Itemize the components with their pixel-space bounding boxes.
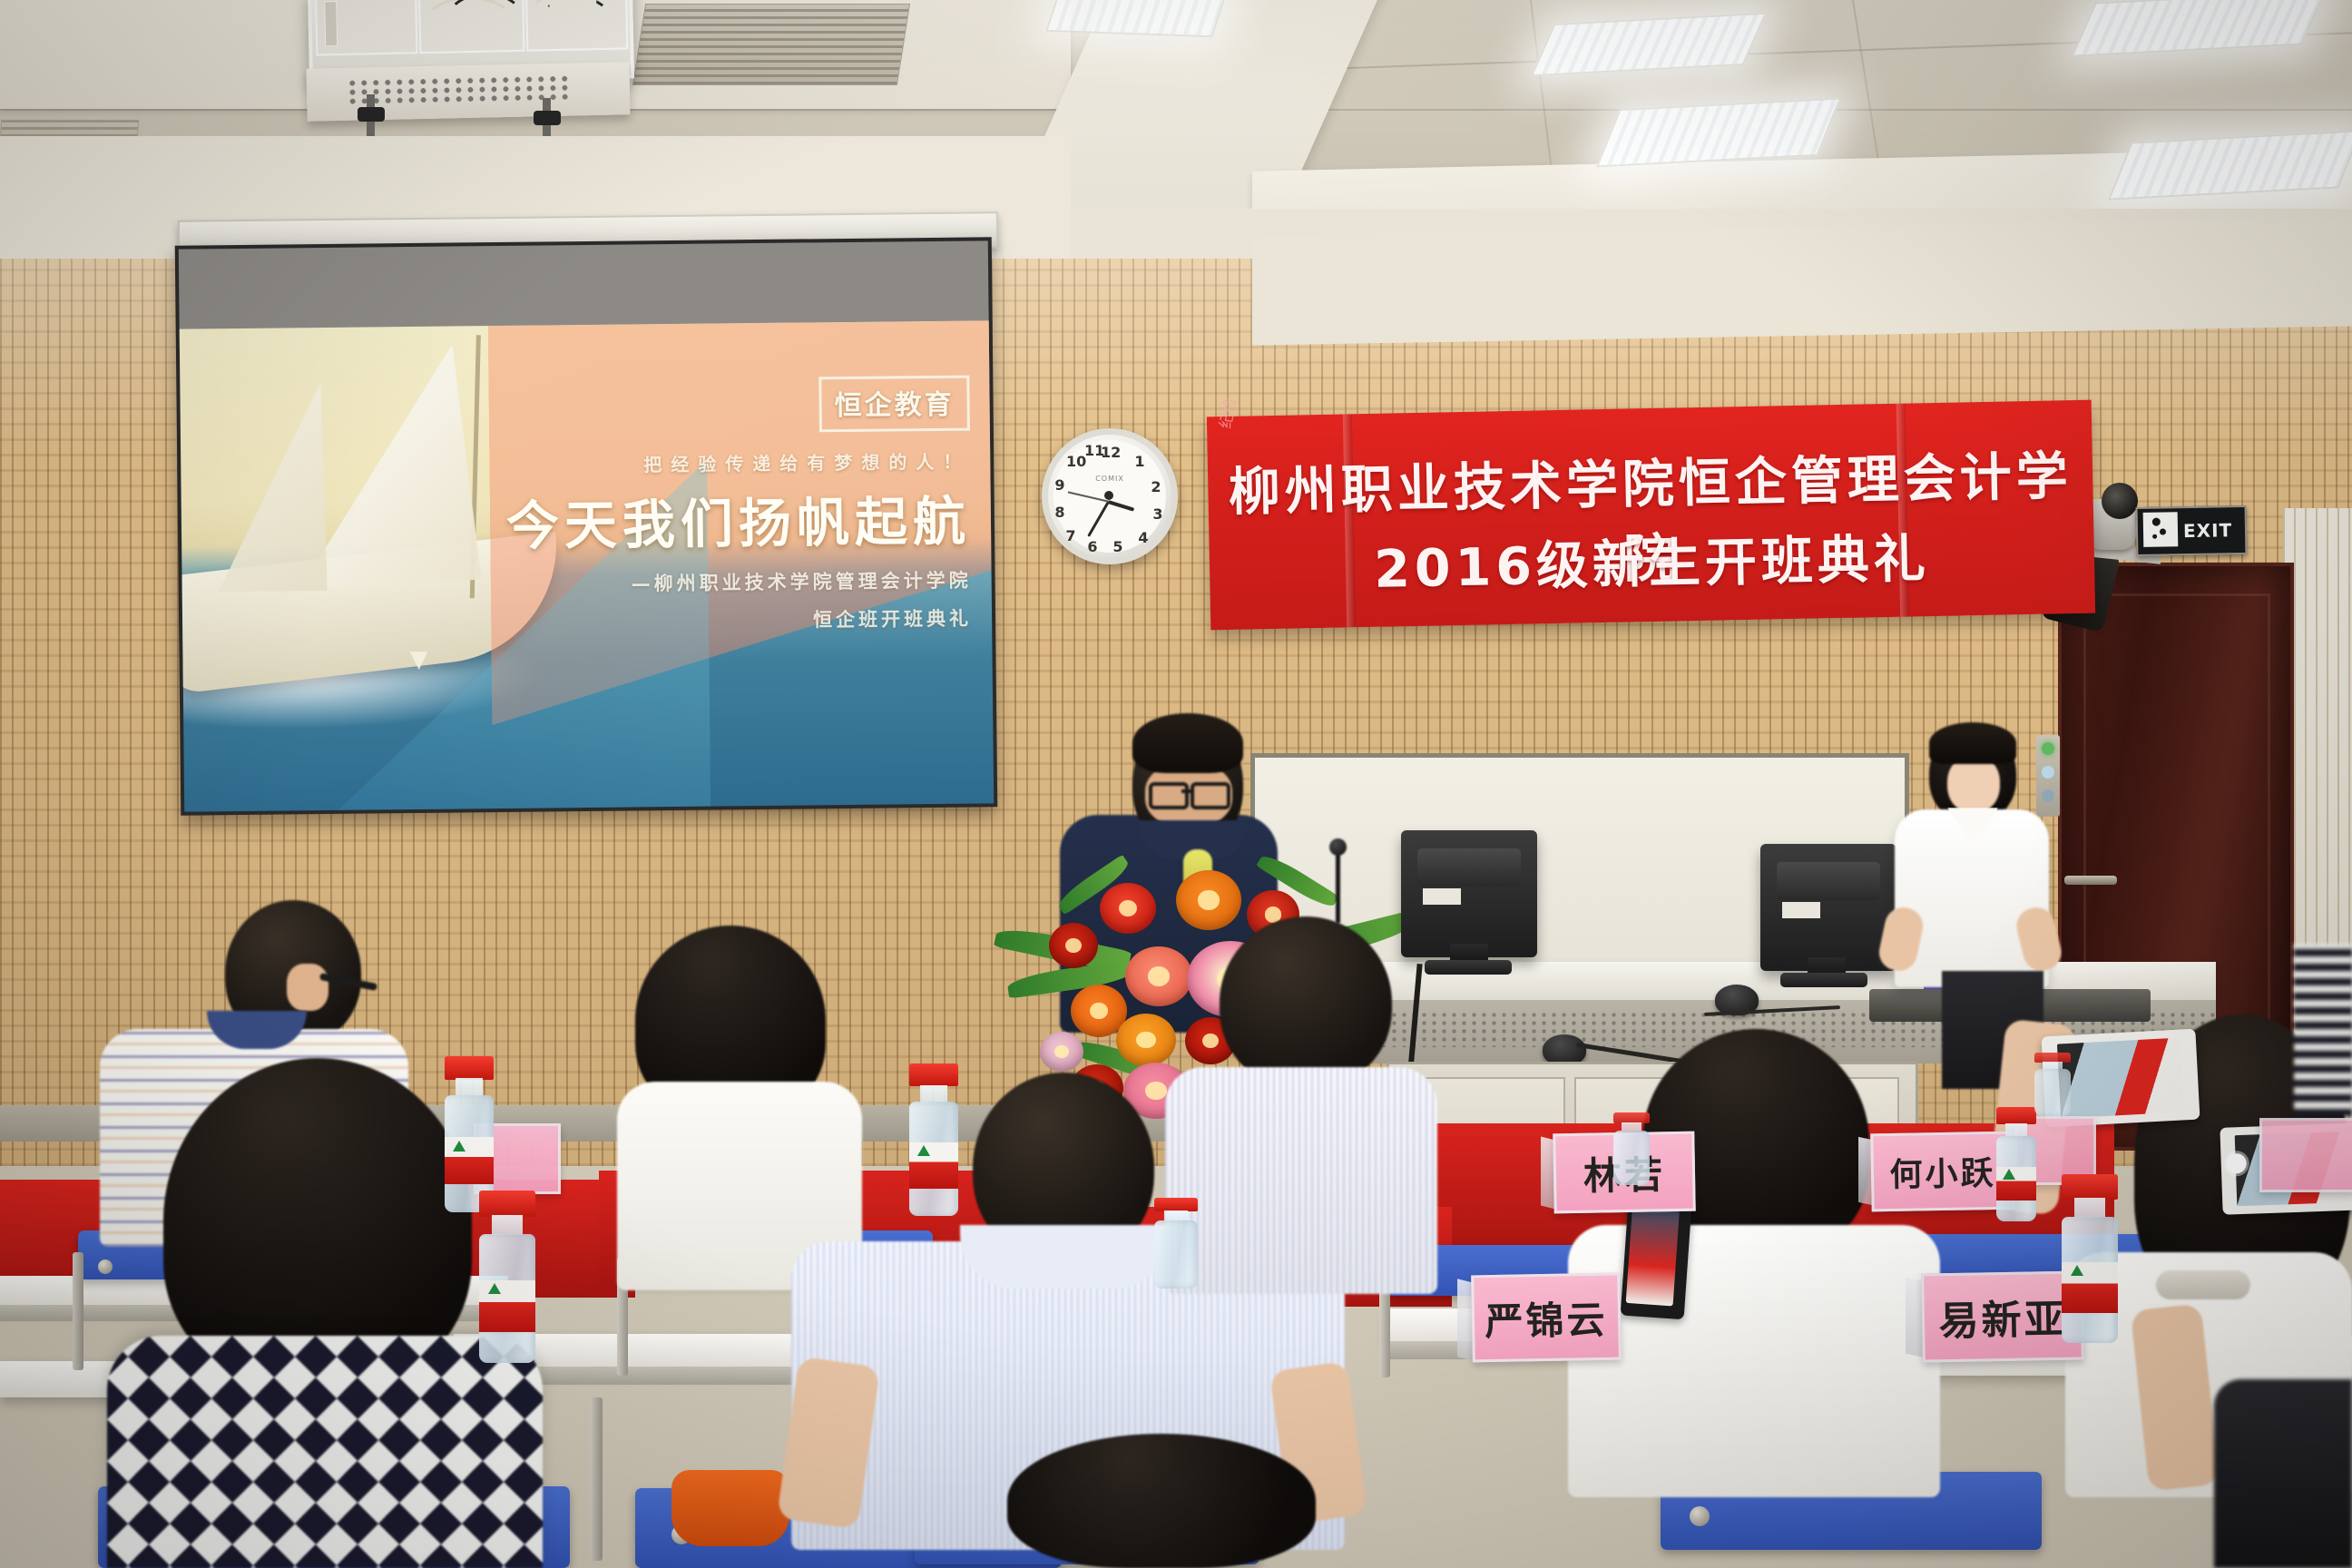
- event-banner: 纪检 柳州职业技术学院恒企管理会计学院 2016级新生开班典礼: [1207, 400, 2095, 631]
- slide-logo: 恒企教育: [818, 376, 970, 433]
- speaker-glasses-right: [1191, 782, 1230, 809]
- audience-patterned-dress: [107, 1336, 543, 1568]
- monitor-left-base: [1425, 960, 1512, 975]
- audience-head-bottom-center: [1007, 1434, 1316, 1568]
- water-bottle-8[interactable]: [2034, 1053, 2071, 1116]
- clock-brand: COMIX: [1053, 475, 1166, 483]
- monitor-right: [1760, 844, 1896, 971]
- clock-number: 3: [1150, 505, 1166, 523]
- clock-number: 6: [1084, 538, 1101, 555]
- clock-number: 7: [1063, 527, 1079, 544]
- speaker-hair: [1132, 713, 1243, 773]
- speaker-glasses-bridge: [1181, 789, 1192, 793]
- chair-bolt: [98, 1259, 113, 1274]
- wrist-bracelet: [2156, 1270, 2250, 1299]
- audience-ear: [287, 964, 328, 1011]
- speaker-glasses-left: [1149, 782, 1189, 809]
- clock-number: 8: [1052, 504, 1068, 521]
- clock-number: 1: [1132, 453, 1148, 470]
- name-card-yi: 易新亚: [1921, 1270, 2084, 1362]
- name-card-partial-far-right: [2259, 1118, 2352, 1192]
- audience-mid-shirt: [1165, 1067, 1437, 1294]
- banner-stamp: 纪检: [1212, 396, 1240, 430]
- ceiling-light: [1045, 0, 1227, 37]
- slide-headline: 今天我们扬帆起航: [399, 479, 972, 562]
- clock-center-pin: [1104, 491, 1113, 500]
- slide-subtitle: 把经验传递给有梦想的人！: [398, 447, 970, 480]
- chair-bolt: [1690, 1506, 1710, 1526]
- ptz-camera: [2087, 499, 2136, 550]
- water-bottle-7[interactable]: [1613, 1112, 1650, 1185]
- phone-held-dark[interactable]: [1621, 1201, 1692, 1320]
- audience-shirt-collar: [960, 1225, 1169, 1289]
- slide-text-block: 恒企教育 把经验传递给有梦想的人！ 今天我们扬帆起航 —柳州职业技术学院管理会计…: [397, 376, 972, 638]
- projection-screen: 恒企教育 把经验传递给有梦想的人！ 今天我们扬帆起航 —柳州职业技术学院管理会计…: [175, 237, 998, 815]
- name-card-yan: 严锦云: [1471, 1273, 1622, 1363]
- clock-face: 12 1 2 3 4 5 6 7 8 9 10 11 COMIX: [1053, 440, 1166, 553]
- monitor-left: [1401, 830, 1537, 957]
- clock-number: 4: [1135, 529, 1151, 546]
- water-bottle-6[interactable]: [1996, 1107, 2036, 1221]
- water-bottle-2[interactable]: [909, 1063, 958, 1216]
- photo-scene: EXIT 恒企教育 把经验传递给有梦想的人！ 今天我们扬帆起航 —柳州职业技术学…: [0, 0, 2352, 1568]
- banner-line-2: 2016级新生开班典礼: [1209, 514, 2094, 606]
- audience-far-right-dark: [2214, 1379, 2352, 1568]
- clock-number: 11: [1084, 442, 1101, 459]
- name-card-text: 何小跃: [1889, 1147, 1996, 1196]
- exit-sign-label: EXIT: [2183, 519, 2233, 542]
- phone-screen: [1626, 1207, 1680, 1306]
- slide-jib-sail: [216, 382, 327, 592]
- door-handle[interactable]: [2064, 876, 2117, 885]
- clock-number: 10: [1066, 453, 1083, 470]
- clock-second-hand: [1068, 492, 1109, 503]
- audience-head-mid-man: [1220, 916, 1392, 1089]
- audience-far-right-striped: [2294, 944, 2352, 1116]
- slide-line-1: —柳州职业技术学院管理会计学院: [400, 566, 972, 600]
- slide-marker: ▼: [409, 646, 427, 673]
- projector-mount-face: [306, 62, 630, 121]
- clock-minute-hand: [1087, 501, 1110, 537]
- air-vent: [632, 4, 910, 85]
- door-indicator-panel: [2036, 735, 2060, 817]
- slide-line-2: 恒企班开班典礼: [400, 604, 972, 638]
- wall-plaster-right: [1252, 217, 2352, 345]
- projector-vent-slot: [324, 1, 338, 46]
- mouse-left[interactable]: [1543, 1034, 1586, 1065]
- water-bottle-5[interactable]: [2062, 1174, 2118, 1343]
- clock-number: 5: [1110, 538, 1126, 555]
- water-bottle-4[interactable]: [1154, 1198, 1198, 1289]
- water-bottle-3[interactable]: [479, 1191, 535, 1363]
- staff-bangs: [1929, 722, 2016, 764]
- gooseneck-microphone: [1336, 853, 1340, 924]
- name-card-text: 易新亚: [1938, 1287, 2067, 1347]
- orange-bag: [671, 1470, 789, 1546]
- wall-clock: 12 1 2 3 4 5 6 7 8 9 10 11 COMIX: [1042, 428, 1178, 564]
- chair-leg: [590, 1397, 603, 1561]
- slide-image: 恒企教育 把经验传递给有梦想的人！ 今天我们扬帆起航 —柳州职业技术学院管理会计…: [180, 320, 995, 811]
- phone-screen: [2057, 1037, 2184, 1118]
- clock-hour-hand: [1107, 500, 1134, 512]
- water-bottle-1[interactable]: [445, 1056, 494, 1212]
- name-card-he: 何小跃: [1870, 1132, 2014, 1212]
- name-card-text: 严锦云: [1485, 1289, 1608, 1346]
- exit-sign: EXIT: [2136, 505, 2248, 556]
- chair-leg: [73, 1252, 83, 1370]
- monitor-right-base: [1780, 973, 1867, 987]
- running-man-icon: [2143, 512, 2179, 547]
